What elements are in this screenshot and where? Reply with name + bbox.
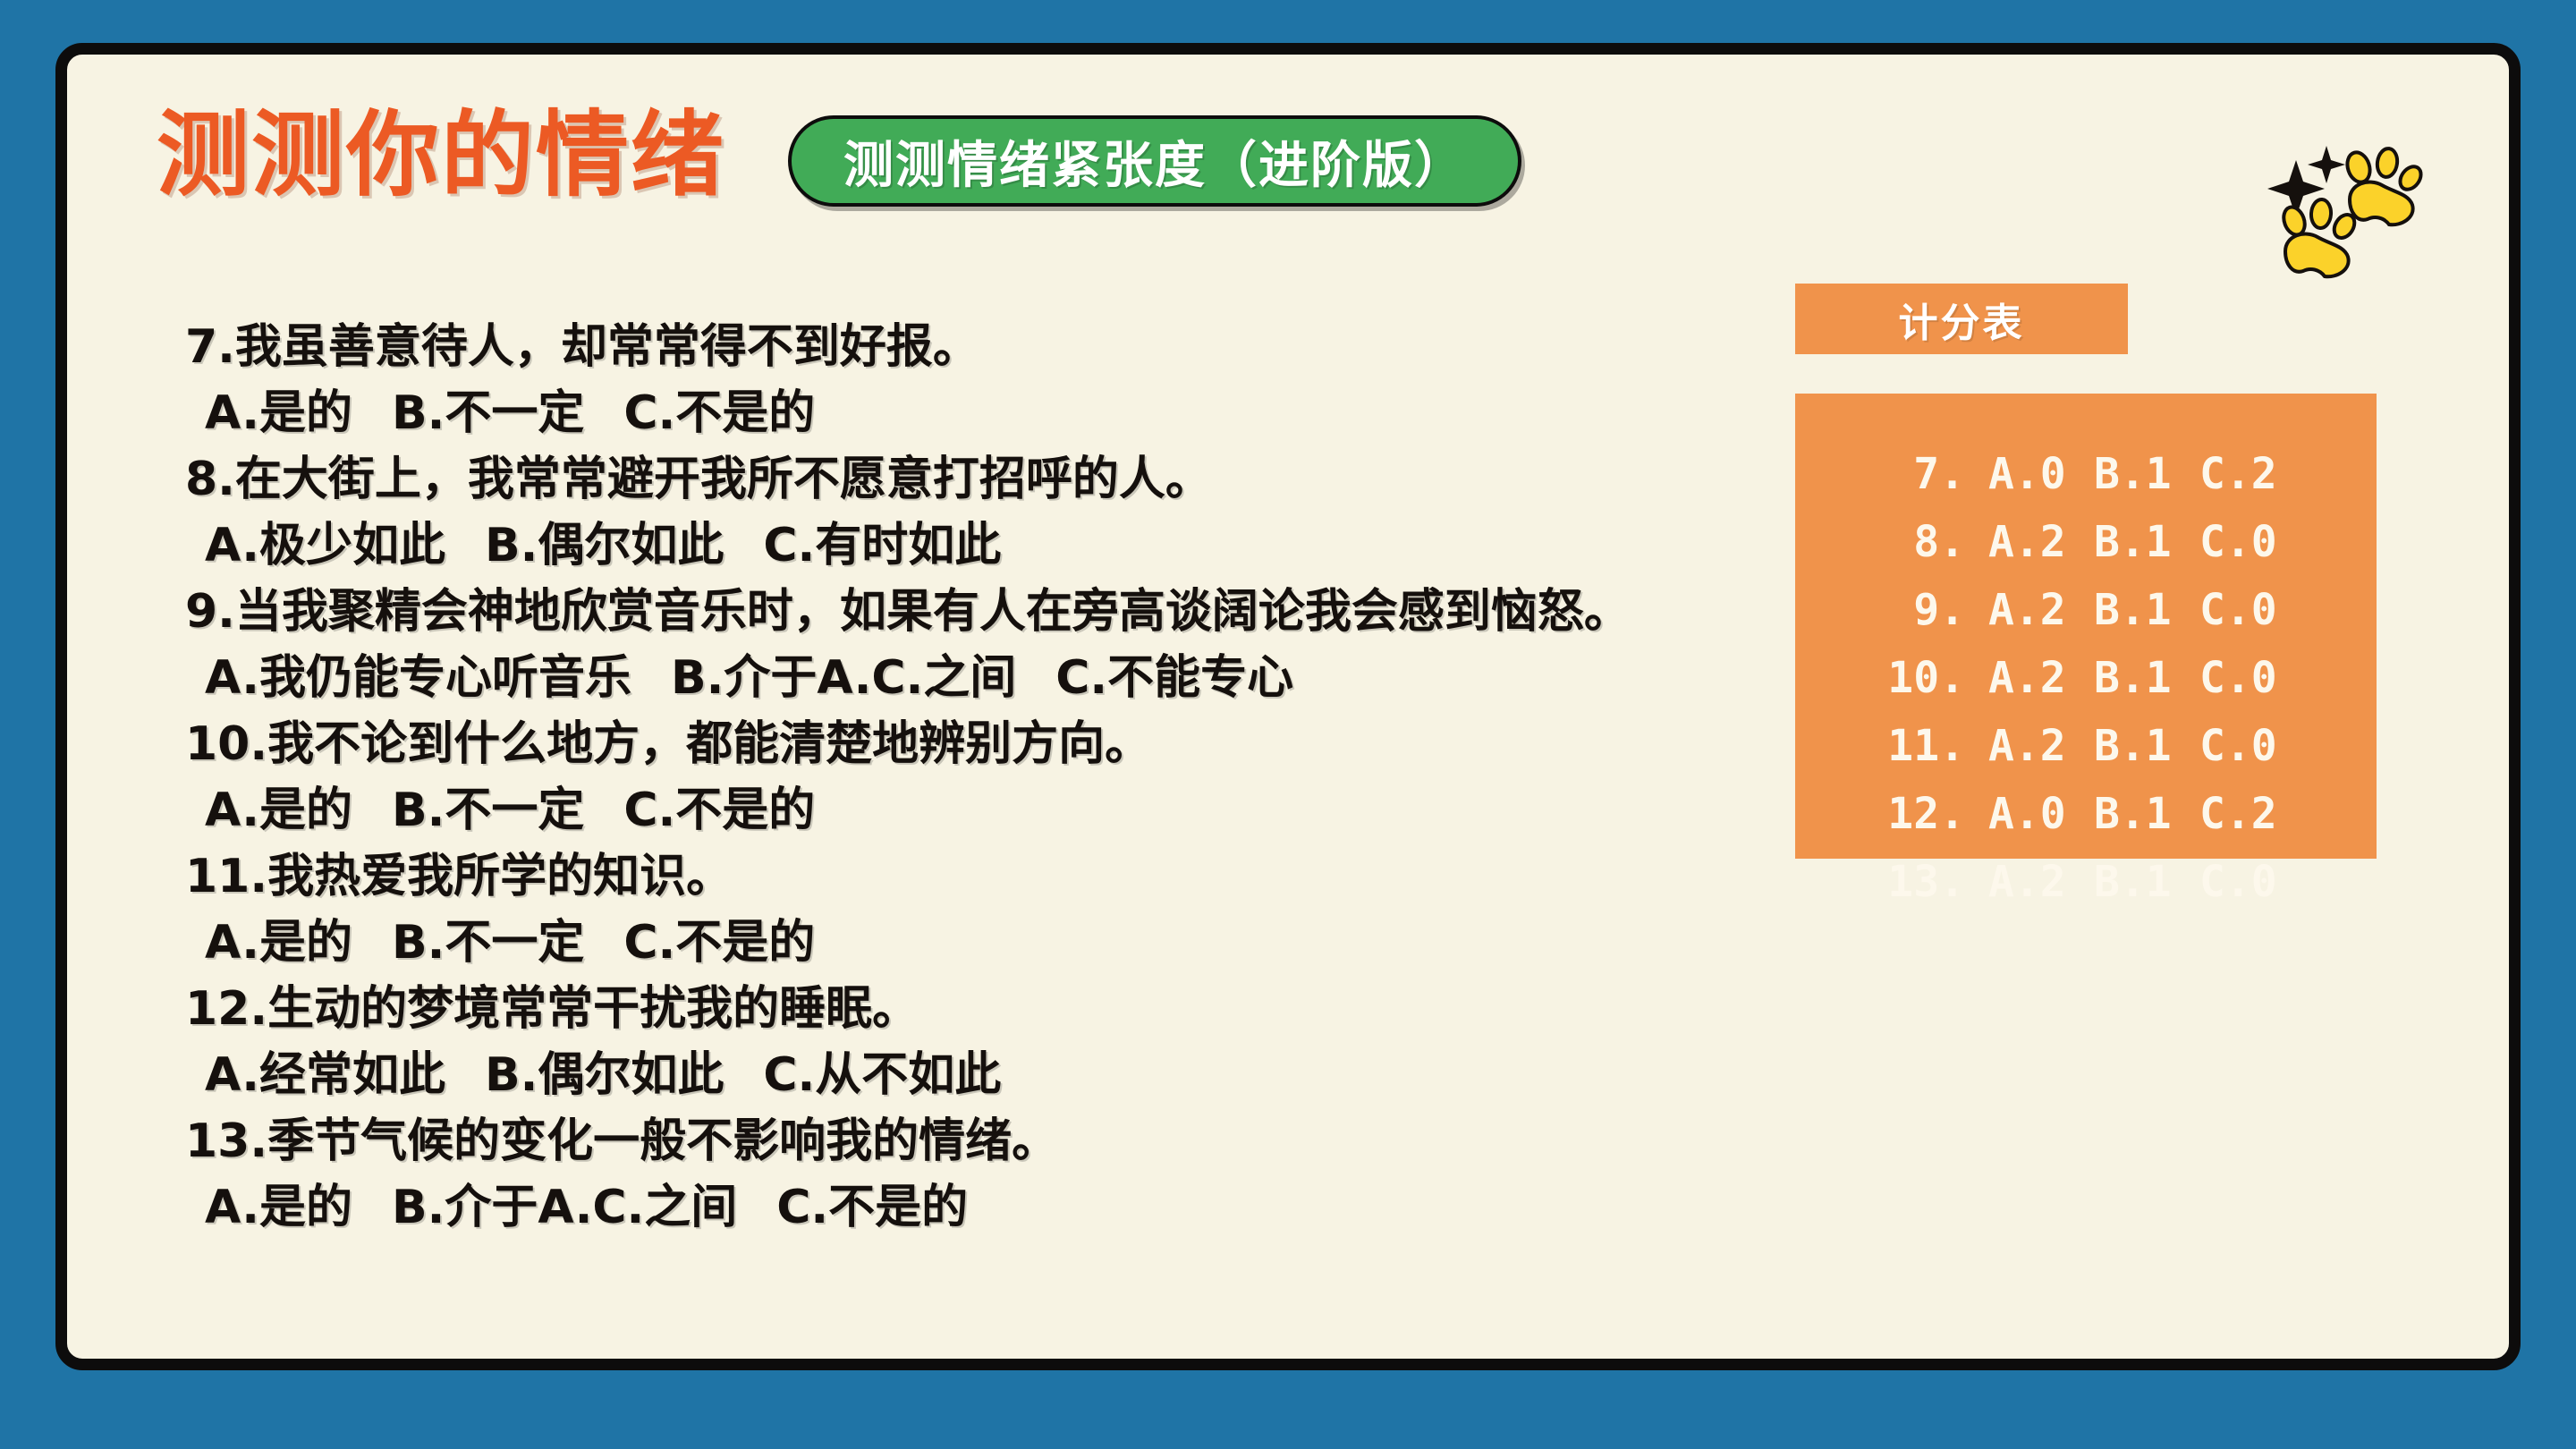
table-row: 8.A.2B.1C.0 [1879,508,2292,576]
option-c[interactable]: C.不是的 [623,390,815,436]
score-row-a: A.2 [1988,657,2094,699]
question-text: 8.在大街上，我常常避开我所不愿意打招呼的人。 [185,446,1795,513]
score-row-c: C.0 [2199,521,2292,563]
table-row: 10.A.2B.1C.0 [1879,644,2292,712]
option-a[interactable]: A.经常如此 [205,1052,445,1098]
question-options: A.极少如此B.偶尔如此C.有时如此 [185,513,1795,579]
score-row-b: B.1 [2094,521,2199,563]
score-row-c: C.0 [2199,724,2292,767]
score-row-number: 13. [1879,860,1988,903]
subtitle-badge: 测测情绪紧张度（进阶版） [788,115,1521,207]
score-row-b: B.1 [2094,453,2199,496]
score-panel: 计分表 7.A.0B.1C.2 8.A.2B.1C.0 9.A.2B.1C.0 … [1795,284,2377,859]
question-item: 8.在大街上，我常常避开我所不愿意打招呼的人。 A.极少如此B.偶尔如此C.有时… [185,446,1795,579]
question-item: 9.当我聚精会神地欣赏音乐时，如果有人在旁高谈阔论我会感到恼怒。 A.我仍能专心… [185,579,1795,711]
paw-prints-sparkle-icon [2226,121,2459,291]
subtitle-badge-label: 测测情绪紧张度（进阶版） [843,125,1466,198]
content-card: 测测你的情绪 测测情绪紧张度（进阶版） [55,43,2521,1370]
score-row-number: 11. [1879,724,1988,767]
score-row-b: B.1 [2094,724,2199,767]
question-options: A.经常如此B.偶尔如此C.从不如此 [185,1042,1795,1108]
table-row: 12.A.0B.1C.2 [1879,780,2292,848]
score-row-a: A.2 [1988,724,2094,767]
question-text: 9.当我聚精会神地欣赏音乐时，如果有人在旁高谈阔论我会感到恼怒。 [185,579,1795,645]
option-c[interactable]: C.从不如此 [763,1052,1001,1098]
option-b[interactable]: B.偶尔如此 [485,522,724,569]
question-options: A.是的B.不一定C.不是的 [185,380,1795,446]
table-row: 7.A.0B.1C.2 [1879,440,2292,508]
table-row: 9.A.2B.1C.0 [1879,576,2292,644]
question-text: 13.季节气候的变化一般不影响我的情绪。 [185,1108,1795,1174]
question-text: 11.我热爱我所学的知识。 [185,843,1795,910]
score-row-c: C.2 [2199,453,2292,496]
question-options: A.我仍能专心听音乐B.介于A.C.之间C.不能专心 [185,645,1795,711]
score-row-c: C.2 [2199,792,2292,835]
question-options: A.是的B.介于A.C.之间C.不是的 [185,1174,1795,1241]
question-item: 7.我虽善意待人，却常常得不到好报。 A.是的B.不一定C.不是的 [185,314,1795,446]
question-list: 7.我虽善意待人，却常常得不到好报。 A.是的B.不一定C.不是的 8.在大街上… [185,314,1795,1241]
score-row-a: A.2 [1988,521,2094,563]
score-row-number: 8. [1879,521,1988,563]
option-b[interactable]: B.介于A.C.之间 [392,1184,737,1231]
question-item: 13.季节气候的变化一般不影响我的情绪。 A.是的B.介于A.C.之间C.不是的 [185,1108,1795,1241]
score-row-b: B.1 [2094,792,2199,835]
score-row-a: A.2 [1988,589,2094,631]
option-b[interactable]: B.不一定 [392,787,584,834]
score-row-c: C.0 [2199,589,2292,631]
option-b[interactable]: B.不一定 [392,919,584,966]
score-row-b: B.1 [2094,657,2199,699]
option-b[interactable]: B.不一定 [392,390,584,436]
score-table: 7.A.0B.1C.2 8.A.2B.1C.0 9.A.2B.1C.0 10.A… [1795,394,2377,859]
score-panel-header-label: 计分表 [1899,291,2025,348]
score-row-a: A.2 [1988,860,2094,903]
header: 测测你的情绪 测测情绪紧张度（进阶版） [67,96,2509,230]
score-row-number: 7. [1879,453,1988,496]
slide-canvas: 测测你的情绪 测测情绪紧张度（进阶版） [0,0,2576,1449]
option-c[interactable]: C.不是的 [623,787,815,834]
score-row-a: A.0 [1988,453,2094,496]
score-row-c: C.0 [2199,860,2292,903]
question-text: 12.生动的梦境常常干扰我的睡眠。 [185,976,1795,1042]
page-title: 测测你的情绪 [157,105,725,205]
option-b[interactable]: B.介于A.C.之间 [671,655,1016,701]
score-row-b: B.1 [2094,860,2199,903]
question-item: 12.生动的梦境常常干扰我的睡眠。 A.经常如此B.偶尔如此C.从不如此 [185,976,1795,1108]
option-b[interactable]: B.偶尔如此 [485,1052,724,1098]
question-text: 7.我虽善意待人，却常常得不到好报。 [185,314,1795,380]
question-options: A.是的B.不一定C.不是的 [185,910,1795,976]
score-panel-header: 计分表 [1795,284,2128,354]
score-row-b: B.1 [2094,589,2199,631]
score-row-number: 12. [1879,792,1988,835]
score-row-c: C.0 [2199,657,2292,699]
table-row: 11.A.2B.1C.0 [1879,712,2292,780]
score-row-a: A.0 [1988,792,2094,835]
score-row-number: 9. [1879,589,1988,631]
score-row-number: 10. [1879,657,1988,699]
option-a[interactable]: A.是的 [205,390,352,436]
option-c[interactable]: C.有时如此 [763,522,1001,569]
option-a[interactable]: A.极少如此 [205,522,445,569]
question-item: 10.我不论到什么地方，都能清楚地辨别方向。 A.是的B.不一定C.不是的 [185,711,1795,843]
table-row: 13.A.2B.1C.0 [1879,848,2292,916]
option-a[interactable]: A.是的 [205,787,352,834]
question-text: 10.我不论到什么地方，都能清楚地辨别方向。 [185,711,1795,777]
question-item: 11.我热爱我所学的知识。 A.是的B.不一定C.不是的 [185,843,1795,976]
question-options: A.是的B.不一定C.不是的 [185,777,1795,843]
option-c[interactable]: C.不是的 [623,919,815,966]
option-a[interactable]: A.是的 [205,1184,352,1231]
option-a[interactable]: A.是的 [205,919,352,966]
option-a[interactable]: A.我仍能专心听音乐 [205,655,631,701]
option-c[interactable]: C.不能专心 [1055,655,1293,701]
option-c[interactable]: C.不是的 [776,1184,968,1231]
